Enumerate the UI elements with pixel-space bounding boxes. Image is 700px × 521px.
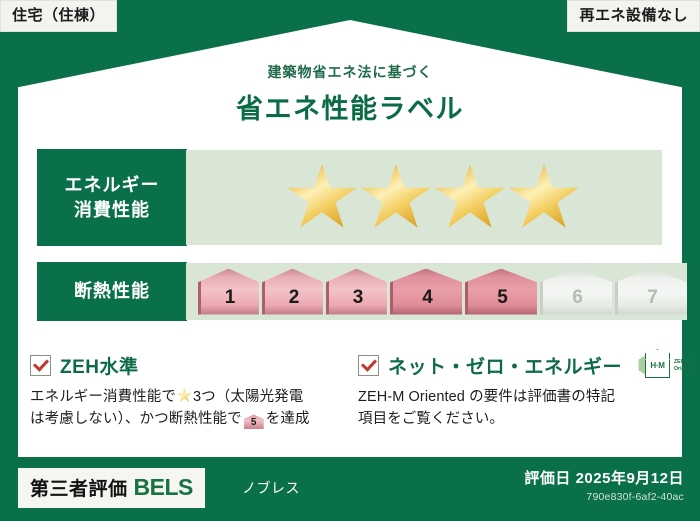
title-subtitle: 建築物省エネ法に基づく [0,62,700,82]
zeh-m-logo-caption: ZEH-M Oriented [674,359,695,372]
zeh-m-logo-label: H·M [645,361,670,370]
checkmark-icon [358,355,379,376]
nze-text-a: ZEH-M Oriented の要件は評価書の特記 [358,389,615,405]
zeh-m-house-icon: H·M [637,352,671,379]
nze-text-b: 項目をご覧ください。 [358,411,504,427]
bels-badge: 第三者評価 BELS [18,468,205,508]
label-title-block: 建築物省エネ法に基づく 省エネ性能ラベル [0,62,700,126]
star-icon [435,164,505,231]
net-zero-energy-text: ZEH-M Oriented の要件は評価書の特記 項目をご覧ください。 [358,386,670,431]
title-main: 省エネ性能ラベル [0,87,700,126]
zeh-standard-block: ZEH水準 エネルギー消費性能で3つ（太陽光発電 は考慮しない）、かつ断熱性能で… [30,352,360,431]
energy-consumption-label: エネルギー 消費性能 [38,150,186,245]
zeh-standard-text: エネルギー消費性能で3つ（太陽光発電 は考慮しない）、かつ断熱性能で5を達成 [30,386,360,431]
zeh-text-a: エネルギー消費性能で [30,389,176,405]
bels-subtitle: ノブレス [242,478,300,498]
insulation-body: 1234567 [186,263,687,320]
building-type-tag: 住宅（住棟） [0,0,117,32]
energy-consumption-body [186,150,662,245]
net-zero-energy-title: ネット・ゼロ・エネルギー [388,352,622,379]
renewable-equipment-tag: 再エネ設備なし [567,0,700,32]
insulation-scale: 1234567 [198,269,687,315]
bels-en-label: BELS [134,474,193,501]
footer-bar: 第三者評価 BELS ノブレス 評価日 2025年9月12日 790e830f-… [0,457,700,521]
star-rating [287,164,579,231]
evaluation-info: 評価日 2025年9月12日 790e830f-6af2-40ac [524,467,684,503]
evaluation-id: 790e830f-6af2-40ac [524,491,684,503]
energy-label-line1: エネルギー [65,173,160,197]
insulation-performance-row: 断熱性能 1234567 [38,263,662,320]
insulation-level-6: 6 [540,269,612,315]
insulation-level-4: 4 [390,269,462,315]
energy-label-line2: 消費性能 [74,198,150,222]
zeh-text-d: を達成 [266,411,310,427]
zeh-standard-title: ZEH水準 [60,352,139,379]
zeh-m-caption-line2: Oriented [674,366,695,372]
insulation-level-2: 2 [262,269,323,315]
zeh-text-c: は考慮しない）、かつ断熱性能で [30,411,242,427]
energy-consumption-row: エネルギー 消費性能 [38,150,662,245]
insulation-level-1: 1 [198,269,259,315]
insulation-level-3: 3 [326,269,387,315]
checkmark-icon [30,355,51,376]
net-zero-energy-block: ネット・ゼロ・エネルギー H·M ZEH-M Oriented ZEH-M Or… [358,352,670,431]
energy-performance-label: 住宅（住棟） 再エネ設備なし 建築物省エネ法に基づく 省エネ性能ラベル エネルギ… [0,0,700,521]
star-icon [361,164,431,231]
insulation-label-text: 断熱性能 [74,279,150,303]
bels-jp-label: 第三者評価 [30,474,128,501]
insulation-label: 断熱性能 [38,263,186,320]
star-icon-inline [177,388,192,403]
house-badge-icon: 5 [244,414,264,429]
zeh-m-caption-line1: ZEH-M [674,359,690,365]
evaluation-date: 評価日 2025年9月12日 [524,467,684,488]
zeh-text-b: 3つ（太陽光発電 [193,389,303,405]
star-icon [509,164,579,231]
insulation-level-5: 5 [465,269,537,315]
zeh-standard-header: ZEH水準 [30,352,360,379]
insulation-level-7: 7 [615,269,687,315]
zeh-m-oriented-logo: H·M ZEH-M Oriented [637,352,695,379]
star-icon [287,164,357,231]
net-zero-energy-header: ネット・ゼロ・エネルギー H·M ZEH-M Oriented [358,352,670,379]
